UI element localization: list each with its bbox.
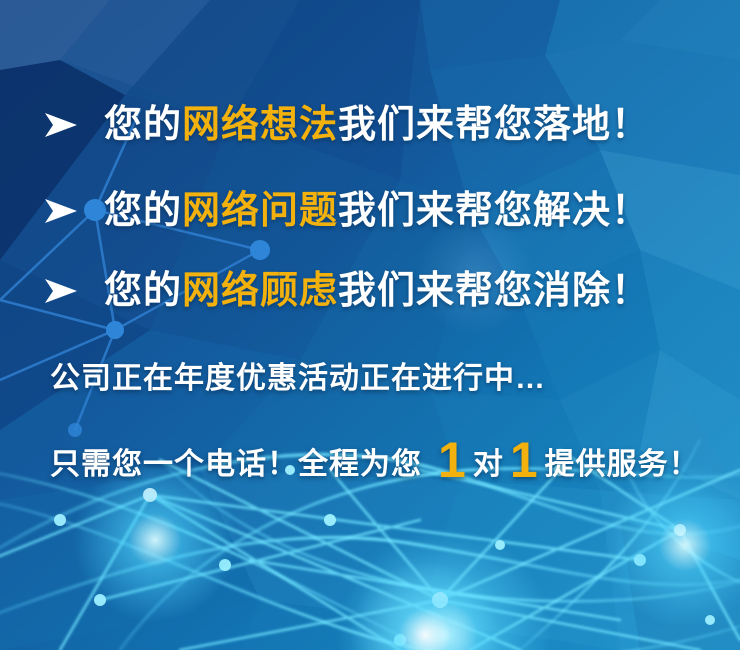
headline-2-prefix: 您的 [104, 190, 182, 232]
headline-text-1: 您的网络想法我们来帮您落地！ [104, 106, 650, 144]
headline-row-1: 您的网络想法我们来帮您落地！ [44, 99, 650, 151]
number-one-second: 1 [504, 435, 545, 485]
arrow-right-icon [44, 112, 78, 138]
promo-banner: 您的网络想法我们来帮您落地！ 您的网络问题我们来帮您解决！ 您的网络顾虑我们 [0, 0, 740, 650]
headline-1-suffix: 我们来帮您落地！ [338, 104, 650, 146]
headline-1-highlight: 网络想法 [182, 104, 338, 146]
headline-row-2: 您的网络问题我们来帮您解决！ [44, 185, 650, 237]
headline-3-prefix: 您的 [104, 270, 182, 312]
headline-row-3: 您的网络顾虑我们来帮您消除！ [44, 265, 650, 317]
subtext-2-part2: 提供服务！ [545, 450, 700, 480]
headline-2-suffix: 我们来帮您解决！ [338, 190, 650, 232]
subtext-2-mid: 对 [473, 450, 504, 480]
arrow-right-icon [44, 198, 78, 224]
arrow-right-icon [44, 278, 78, 304]
headline-3-highlight: 网络顾虑 [182, 270, 338, 312]
headline-2-highlight: 网络问题 [182, 190, 338, 232]
subtext-line-1: 公司正在年度优惠活动正在进行中… [50, 364, 546, 394]
headline-3-suffix: 我们来帮您消除！ [338, 270, 650, 312]
headline-1-prefix: 您的 [104, 104, 182, 146]
subtext-2-part1: 只需您一个电话！全程为您 [50, 450, 422, 480]
banner-content: 您的网络想法我们来帮您落地！ 您的网络问题我们来帮您解决！ 您的网络顾虑我们 [0, 0, 740, 650]
subtext-line-2: 只需您一个电话！全程为您 1 对 1 提供服务！ [50, 432, 700, 482]
number-one-first: 1 [432, 435, 473, 485]
headline-text-3: 您的网络顾虑我们来帮您消除！ [104, 272, 650, 310]
headline-text-2: 您的网络问题我们来帮您解决！ [104, 192, 650, 230]
